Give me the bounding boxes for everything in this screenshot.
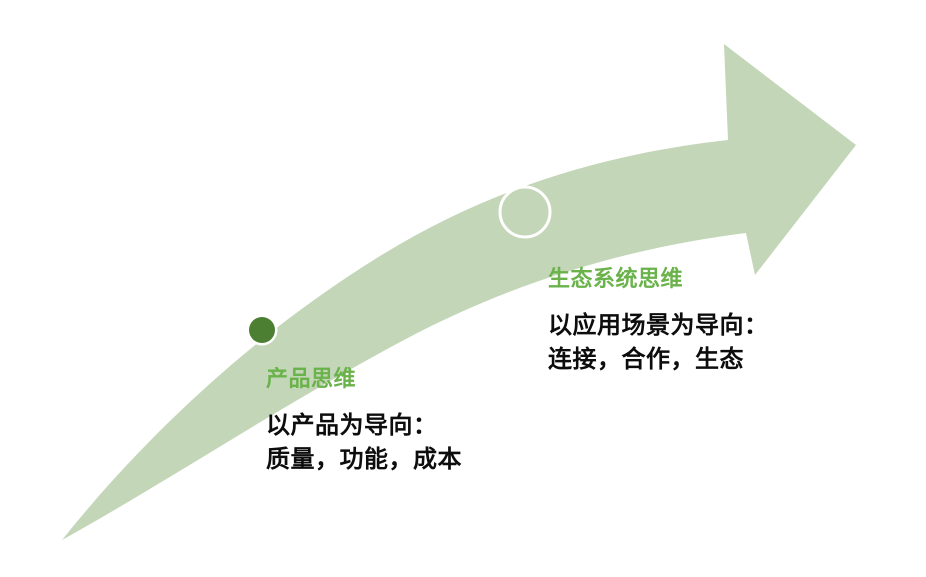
callout-ecosystem: 生态系统思维 以应用场景为导向： 连接，合作，生态: [548, 266, 769, 377]
callout-ecosystem-title: 生态系统思维: [548, 266, 769, 292]
callout-product-title: 产品思维: [266, 366, 462, 392]
callout-ecosystem-body-line-2: 连接，合作，生态: [548, 343, 769, 377]
slide-canvas: 产品思维 以产品为导向： 质量，功能，成本 生态系统思维 以应用场景为导向： 连…: [0, 0, 926, 577]
callout-product-body-line-1: 以产品为导向：: [266, 409, 462, 443]
callout-product: 产品思维 以产品为导向： 质量，功能，成本: [266, 366, 462, 477]
milestone-marker-filled-dot: [249, 317, 275, 343]
callout-ecosystem-body-line-1: 以应用场景为导向：: [548, 309, 769, 343]
arrow-graphic: [0, 0, 926, 577]
callout-product-body: 以产品为导向： 质量，功能，成本: [266, 409, 462, 477]
callout-ecosystem-body: 以应用场景为导向： 连接，合作，生态: [548, 309, 769, 377]
callout-product-body-line-2: 质量，功能，成本: [266, 443, 462, 477]
